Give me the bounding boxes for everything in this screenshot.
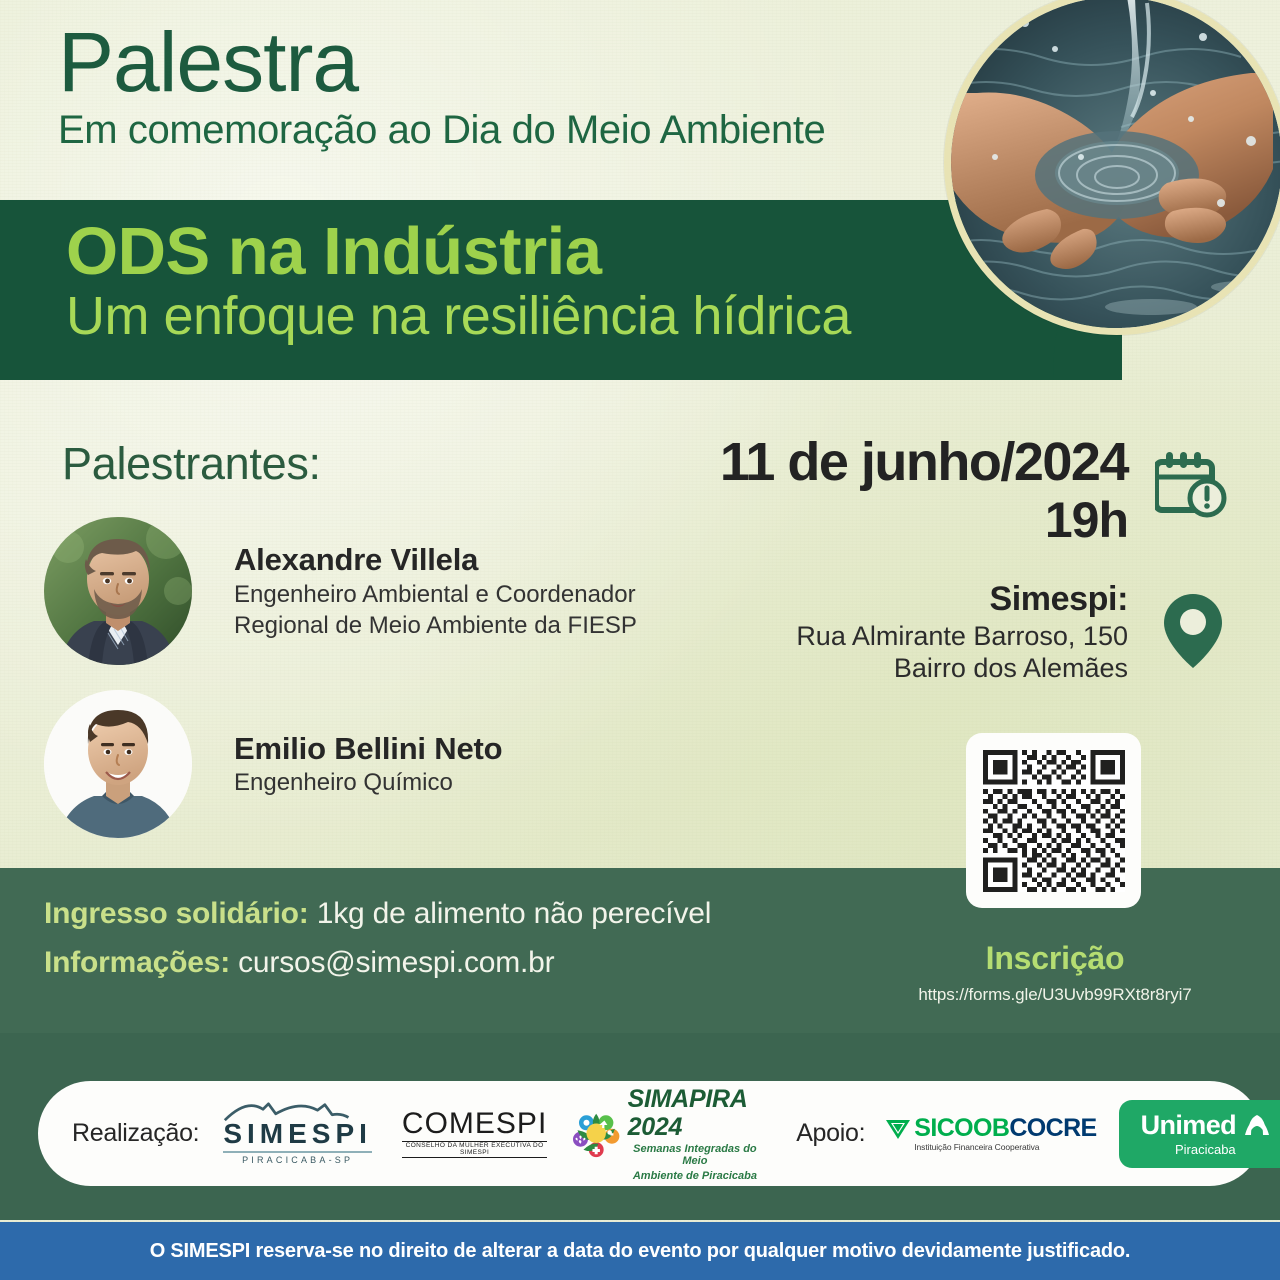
comespi-name: COMESPI <box>402 1109 547 1139</box>
simespi-name: SIMESPI <box>223 1118 372 1149</box>
contact-email[interactable]: cursos@simespi.com.br <box>238 946 554 979</box>
avatar-photo-1 <box>44 517 192 665</box>
speaker-name: Alexandre Villela <box>234 542 637 578</box>
event-date-block: 11 de junho/2024 19h <box>720 435 1128 550</box>
simapira-tagline-line: Ambiente de Piracicaba <box>628 1170 763 1182</box>
avatar <box>44 517 192 665</box>
unimed-symbol-icon <box>1244 1113 1270 1137</box>
talk-title: ODS na Indústria <box>66 218 851 286</box>
simapira-name: SIMAPIRA 2024 <box>628 1085 763 1141</box>
registration-url[interactable]: https://forms.gle/U3Uvb99RXt8r8ryi7 <box>880 985 1230 1005</box>
sicoob-tagline: Instituição Financeira Cooperativa <box>914 1143 1096 1152</box>
avatar-photo-2 <box>44 690 192 838</box>
logo-unimed: Unimed Piracicaba <box>1119 1100 1280 1168</box>
comespi-tagline: CONSELHO DA MULHER EXECUTIVA DO SIMESPI <box>402 1141 547 1158</box>
sponsors-bar: Realização: SIMESPI PIRACICABA-SP COMESP… <box>38 1081 1262 1186</box>
speaker-name: Emilio Bellini Neto <box>234 731 502 767</box>
sicoob-name-a: SICOOB <box>914 1114 1009 1142</box>
talk-subtitle: Um enfoque na resiliência hídrica <box>66 288 851 345</box>
registration-block: Inscrição https://forms.gle/U3Uvb99RXt8r… <box>880 940 1230 1005</box>
avatar <box>44 690 192 838</box>
contact-info-row: Informações: cursos@simespi.com.br <box>44 939 711 988</box>
unimed-name: Unimed <box>1141 1112 1236 1139</box>
simapira-tagline-line: Semanas Integradas do Meio <box>628 1143 763 1168</box>
venue-name: Simespi: <box>796 580 1128 619</box>
support-label: Apoio: <box>796 1119 865 1148</box>
speaker-item: Alexandre Villela Engenheiro Ambiental e… <box>44 517 637 665</box>
qr-code[interactable] <box>983 750 1125 892</box>
hands-water-photo <box>944 0 1280 335</box>
simespi-city: PIRACICABA-SP <box>223 1151 372 1165</box>
venue-block: Simespi: Rua Almirante Barroso, 150 Bair… <box>796 580 1128 683</box>
page-title: Palestra <box>58 22 825 103</box>
logo-simespi: SIMESPI PIRACICABA-SP <box>223 1102 372 1165</box>
speaker-role-line: Engenheiro Ambiental e Coordenador <box>234 581 637 609</box>
simapira-flower-icon <box>573 1103 619 1165</box>
title-band: ODS na Indústria Um enfoque na resiliênc… <box>0 200 1122 380</box>
hands-water-illustration <box>951 0 1280 328</box>
page-subtitle: Em comemoração ao Dia do Meio Ambiente <box>58 109 825 151</box>
disclaimer-bar: O SIMESPI reserva-se no direito de alter… <box>0 1222 1280 1280</box>
speakers-heading: Palestrantes: <box>62 438 321 490</box>
unimed-city: Piracicaba <box>1141 1143 1270 1156</box>
event-poster: Palestra Em comemoração ao Dia do Meio A… <box>0 0 1280 1280</box>
logo-comespi: COMESPI CONSELHO DA MULHER EXECUTIVA DO … <box>402 1109 547 1158</box>
logo-sicoob: SICOOBCOCRE Instituição Financeira Coope… <box>885 1116 1096 1152</box>
speaker-item: Emilio Bellini Neto Engenheiro Químico <box>44 690 502 838</box>
ticket-info-row: Ingresso solidário: 1kg de alimento não … <box>44 890 711 939</box>
sicoob-name-b: COCRE <box>1009 1114 1096 1142</box>
realization-label: Realização: <box>72 1119 199 1148</box>
qr-code-card[interactable] <box>966 733 1141 908</box>
logo-simapira: SIMAPIRA 2024 Semanas Integradas do Meio… <box>573 1085 762 1182</box>
disclaimer-text: O SIMESPI reserva-se no direito de alter… <box>150 1240 1131 1263</box>
ticket-label: Ingresso solidário: <box>44 897 309 930</box>
ticket-value: 1kg de alimento não perecível <box>317 897 711 930</box>
contact-label: Informações: <box>44 946 230 979</box>
event-date: 11 de junho/2024 <box>720 435 1128 490</box>
calendar-clock-icon <box>1155 448 1229 527</box>
sicoob-triangle-icon <box>885 1116 911 1142</box>
poster-header: Palestra Em comemoração ao Dia do Meio A… <box>58 22 825 151</box>
event-time: 19h <box>720 492 1128 550</box>
venue-address-line: Rua Almirante Barroso, 150 <box>796 621 1128 651</box>
speaker-role-line: Engenheiro Químico <box>234 769 502 797</box>
map-pin-icon <box>1162 592 1224 675</box>
speaker-role-line: Regional de Meio Ambiente da FIESP <box>234 612 637 640</box>
venue-address-line: Bairro dos Alemães <box>796 653 1128 683</box>
registration-label: Inscrição <box>880 940 1230 977</box>
